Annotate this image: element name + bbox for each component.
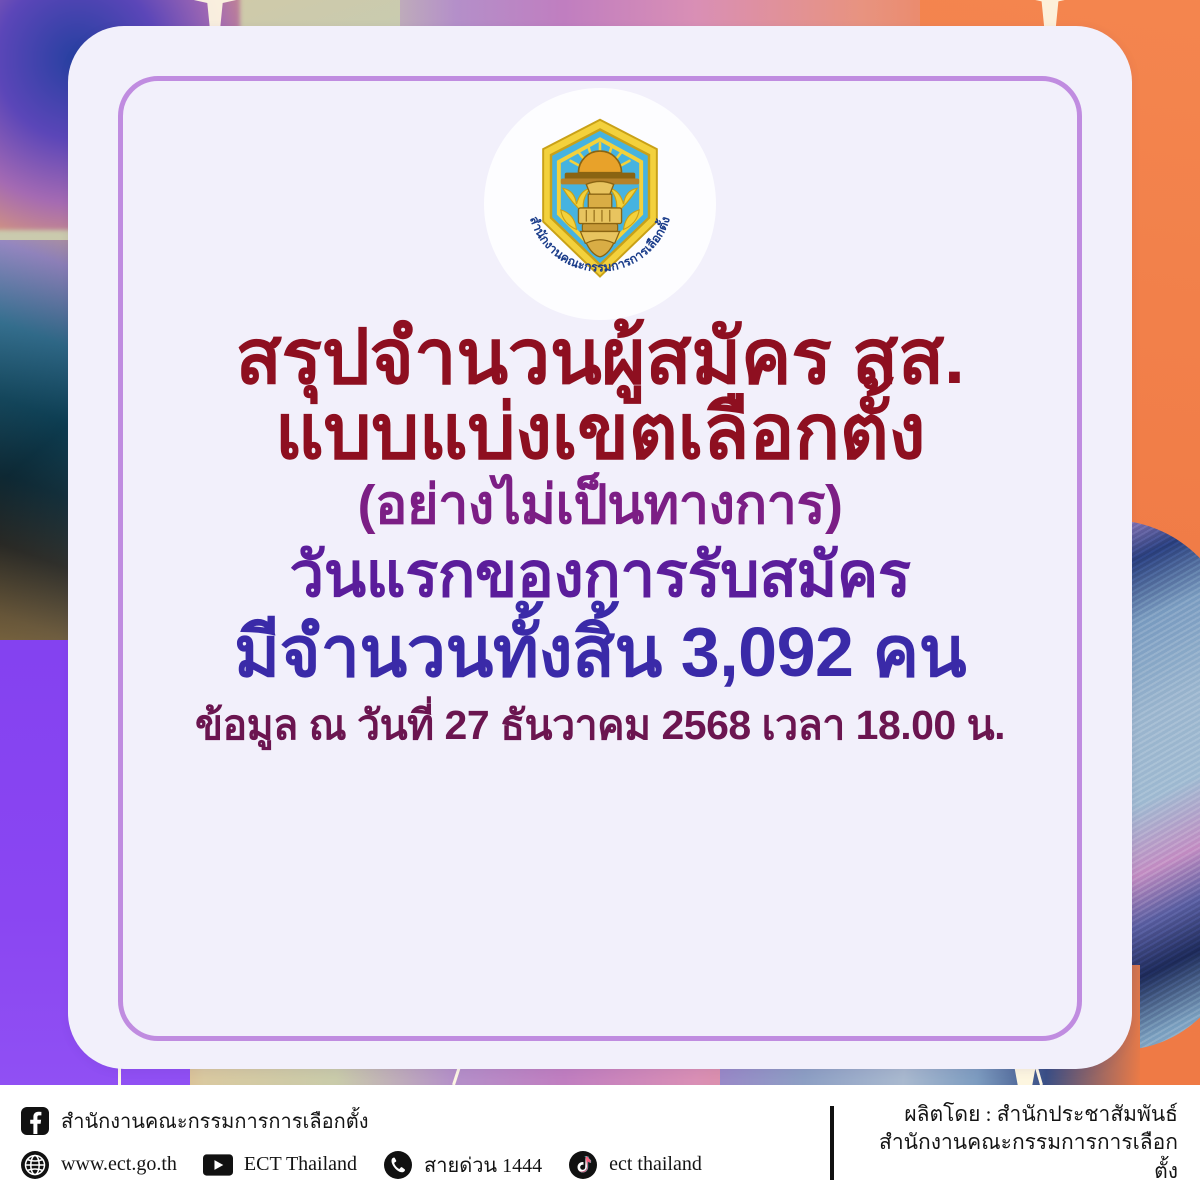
footer-divider (830, 1106, 834, 1180)
contact-youtube[interactable]: ECT Thailand (203, 1150, 357, 1180)
tiktok-label: ect thailand (609, 1153, 702, 1176)
headline-line-1: สรุปจำนวนผู้สมัคร สส. (126, 322, 1074, 395)
footer-bar: สำนักงานคณะกรรมการการเลือกตั้ง (0, 1085, 1200, 1200)
facebook-icon (20, 1106, 50, 1136)
contact-website[interactable]: www.ect.go.th (20, 1150, 177, 1180)
youtube-label: ECT Thailand (244, 1153, 357, 1176)
contact-hotline[interactable]: สายด่วน 1444 (383, 1149, 542, 1181)
ect-seal-icon: สำนักงานคณะกรรมการการเลือกตั้ง (484, 88, 716, 320)
footer-producer: ผลิตโดย : สำนักประชาสัมพันธ์ สำนักงานคณะ… (860, 1085, 1200, 1200)
headline-line-2: แบบแบ่งเขตเลือกตั้ง (126, 397, 1074, 470)
phone-icon (383, 1150, 413, 1180)
producer-line-2: สำนักงานคณะกรรมการการเลือกตั้ง (860, 1128, 1178, 1185)
footer-contacts: สำนักงานคณะกรรมการการเลือกตั้ง (0, 1085, 830, 1200)
first-day-line: วันแรกของการรับสมัคร (126, 546, 1074, 606)
headline-block: สรุปจำนวนผู้สมัคร สส. แบบแบ่งเขตเลือกตั้… (68, 322, 1132, 746)
total-count-line: มีจำนวนทั้งสิ้น 3,092 คน (126, 619, 1074, 686)
website-label: www.ect.go.th (61, 1153, 177, 1176)
hotline-label: สายด่วน 1444 (424, 1149, 542, 1181)
footer-row-facebook: สำนักงานคณะกรรมการการเลือกตั้ง (20, 1105, 830, 1137)
globe-icon (20, 1150, 50, 1180)
tiktok-icon (568, 1150, 598, 1180)
producer-line-1: ผลิตโดย : สำนักประชาสัมพันธ์ (860, 1100, 1178, 1128)
footer-row-links: www.ect.go.th ECT Thailand (20, 1149, 830, 1181)
poster-root: สำนักงานคณะกรรมการการเลือกตั้ง สรุปจำนวน… (0, 0, 1200, 1200)
contact-facebook[interactable]: สำนักงานคณะกรรมการการเลือกตั้ง (20, 1105, 368, 1137)
youtube-icon (203, 1150, 233, 1180)
facebook-label: สำนักงานคณะกรรมการการเลือกตั้ง (61, 1105, 368, 1137)
subtitle-unofficial: (อย่างไม่เป็นทางการ) (126, 480, 1074, 532)
content-card: สำนักงานคณะกรรมการการเลือกตั้ง สรุปจำนวน… (68, 26, 1132, 1069)
timestamp-line: ข้อมูล ณ วันที่ 27 ธันวาคม 2568 เวลา 18.… (126, 706, 1074, 745)
contact-tiktok[interactable]: ect thailand (568, 1150, 702, 1180)
